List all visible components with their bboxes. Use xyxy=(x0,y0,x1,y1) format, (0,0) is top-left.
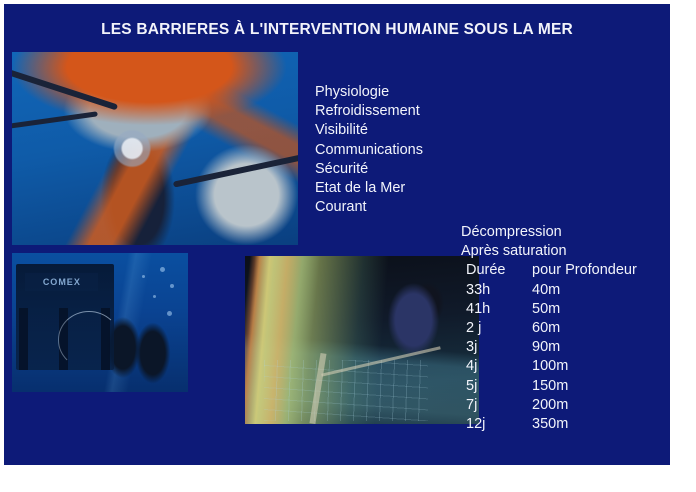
presentation-slide: LES BARRIERES À L'INTERVENTION HUMAINE S… xyxy=(4,4,670,465)
decompression-heading: Décompression xyxy=(461,223,637,242)
cell-depth: 100m xyxy=(532,357,637,376)
barrier-item: Visibilité xyxy=(315,121,423,140)
column-header-duration: Durée xyxy=(461,261,532,280)
cell-duration: 2 j xyxy=(461,319,532,338)
page-title: LES BARRIERES À L'INTERVENTION HUMAINE S… xyxy=(4,21,670,39)
cell-depth: 350m xyxy=(532,415,637,434)
photo-image xyxy=(12,52,298,245)
table-row: 41h 50m xyxy=(461,300,637,319)
column-header-middle: pour xyxy=(532,262,561,278)
diver-at-subsea-structure-photo xyxy=(12,52,298,245)
table-row: 3j 90m xyxy=(461,338,637,357)
bubble-icon xyxy=(160,267,165,272)
decompression-table: Durée pour Profondeur 33h 40m 41h 50m 2 … xyxy=(461,261,637,434)
comex-sign-label: COMEX xyxy=(25,273,98,291)
cell-depth: 150m xyxy=(532,377,637,396)
divers-at-comex-habitat-photo: COMEX xyxy=(12,253,188,392)
cell-duration: 3j xyxy=(461,338,532,357)
table-row: 7j 200m xyxy=(461,396,637,415)
decompression-subheading: Après saturation xyxy=(461,242,637,261)
cell-duration: 7j xyxy=(461,396,532,415)
table-row: 12j 350m xyxy=(461,415,637,434)
barriers-list: Physiologie Refroidissement Visibilité C… xyxy=(315,83,423,217)
column-header-depth-label: Profondeur xyxy=(565,262,637,278)
bubble-icon xyxy=(153,295,156,298)
table-header-row: Durée pour Profondeur xyxy=(461,261,637,280)
table-row: 5j 150m xyxy=(461,377,637,396)
cell-depth: 40m xyxy=(532,281,637,300)
cell-duration: 33h xyxy=(461,281,532,300)
cell-duration: 5j xyxy=(461,377,532,396)
cell-depth: 200m xyxy=(532,396,637,415)
cell-duration: 4j xyxy=(461,357,532,376)
diver-hose xyxy=(58,311,120,369)
cell-depth: 60m xyxy=(532,319,637,338)
barrier-item: Refroidissement xyxy=(315,102,423,121)
barrier-item: Physiologie xyxy=(315,83,423,102)
cell-depth: 90m xyxy=(532,338,637,357)
cell-duration: 12j xyxy=(461,415,532,434)
cell-duration: 41h xyxy=(461,300,532,319)
decompression-block: Décompression Après saturation Durée pou… xyxy=(461,223,637,434)
cell-depth: 50m xyxy=(532,300,637,319)
table-row: 2 j 60m xyxy=(461,319,637,338)
table-row: 4j 100m xyxy=(461,357,637,376)
habitat-leg xyxy=(19,308,28,369)
barrier-item: Communications xyxy=(315,141,423,160)
barrier-item: Etat de la Mer xyxy=(315,179,423,198)
column-header-depth: pour Profondeur xyxy=(532,261,637,280)
table-row: 33h 40m xyxy=(461,281,637,300)
diver-hyperbaric-test-pool-photo xyxy=(245,256,479,424)
barrier-item: Sécurité xyxy=(315,160,423,179)
barrier-item: Courant xyxy=(315,198,423,217)
